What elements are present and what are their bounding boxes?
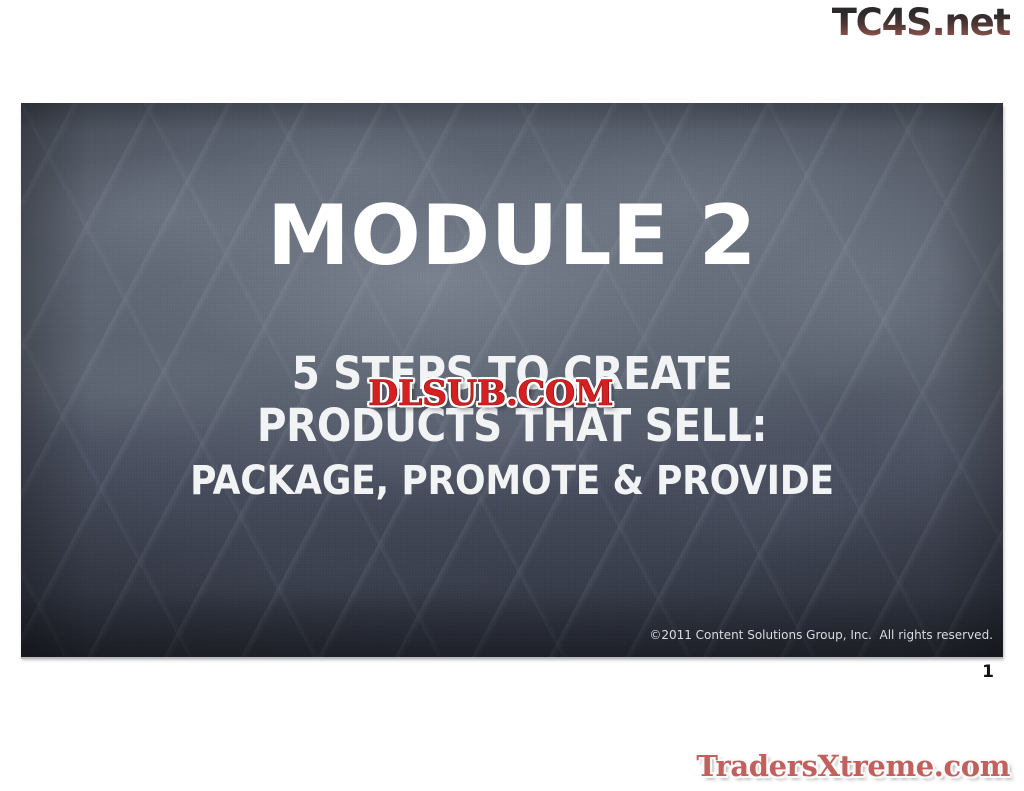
copyright-notice: ©2011 Content Solutions Group, Inc. All … — [649, 628, 993, 643]
slide-title: MODULE 2 — [21, 190, 1003, 282]
watermark-dlsub: DLSUB.COM — [368, 374, 613, 414]
watermark-tradersxtreme: TradersXtreme.com — [696, 748, 1010, 784]
site-logo-tc4s: TC4S.net — [832, 2, 1010, 44]
slide-subtitle-line-3: PACKAGE, PROMOTE & PROVIDE — [21, 452, 1003, 510]
page-number: 1 — [982, 662, 994, 682]
